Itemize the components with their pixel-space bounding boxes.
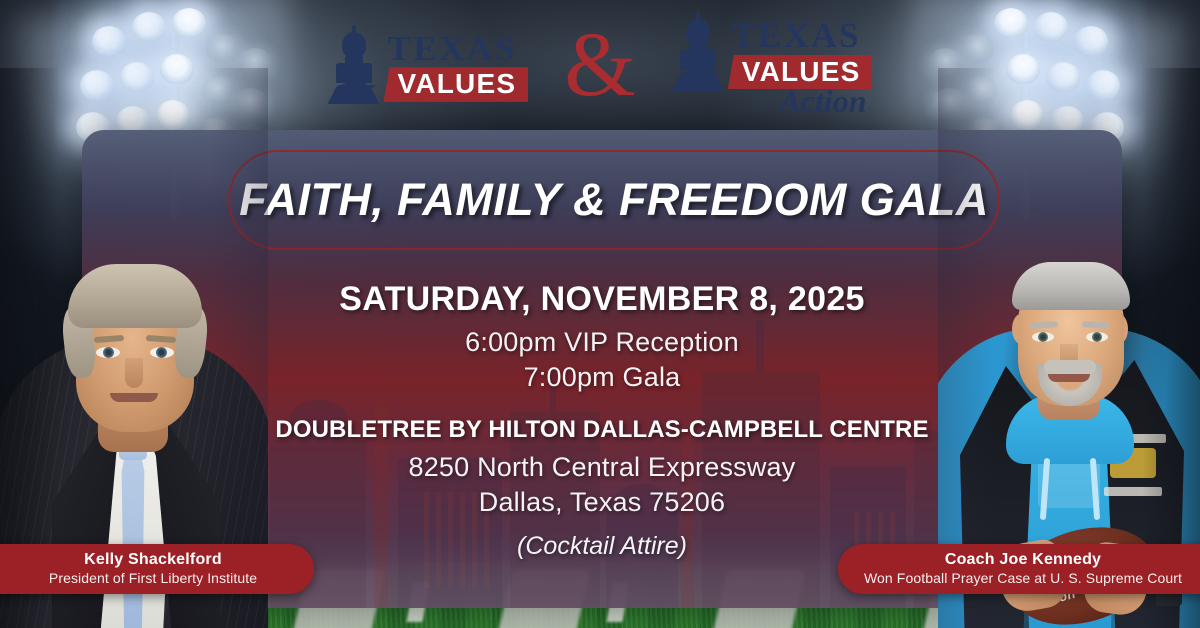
- logo-values-banner: VALUES: [384, 67, 529, 102]
- texas-capitol-icon: [328, 32, 380, 104]
- event-title-pill: FAITH, FAMILY & FREEDOM GALA: [228, 150, 1000, 250]
- logo-texas-text: TEXAS: [384, 32, 529, 65]
- ampersand-icon: &: [564, 28, 636, 102]
- texas-values-action-wordmark: TEXAS VALUES Action: [728, 19, 873, 116]
- iris: [103, 347, 114, 358]
- logo-action-script: Action: [728, 87, 873, 116]
- iris: [1038, 332, 1048, 342]
- iris: [156, 347, 167, 358]
- texas-capitol-icon: [672, 19, 724, 91]
- speaker-role: President of First Liberty Institute: [49, 570, 257, 587]
- speaker-banner-coach-joe-kennedy: Coach Joe Kennedy Won Football Prayer Ca…: [838, 544, 1200, 594]
- mouth: [1048, 374, 1090, 382]
- hair: [1012, 262, 1130, 310]
- hair: [68, 264, 202, 328]
- iris: [1092, 332, 1102, 342]
- logo-texas-text: TEXAS: [728, 19, 873, 52]
- nose: [125, 358, 143, 388]
- mustache: [1044, 360, 1096, 374]
- event-poster: FAITH, FAMILY & FREEDOM GALA SATURDAY, N…: [0, 0, 1200, 628]
- speaker-name: Kelly Shackelford: [84, 551, 222, 569]
- speaker-role: Won Football Prayer Case at U. S. Suprem…: [864, 570, 1182, 587]
- texas-values-logo[interactable]: TEXAS VALUES: [328, 32, 529, 104]
- mouth: [110, 393, 158, 402]
- texas-values-action-logo[interactable]: TEXAS VALUES Action: [672, 19, 873, 116]
- texas-values-wordmark: TEXAS VALUES: [384, 32, 529, 102]
- speaker-banner-kelly-shackelford: Kelly Shackelford President of First Lib…: [0, 544, 314, 594]
- event-title: FAITH, FAMILY & FREEDOM GALA: [239, 174, 989, 226]
- logo-values-banner: VALUES: [728, 55, 873, 90]
- speaker-name: Coach Joe Kennedy: [945, 551, 1101, 569]
